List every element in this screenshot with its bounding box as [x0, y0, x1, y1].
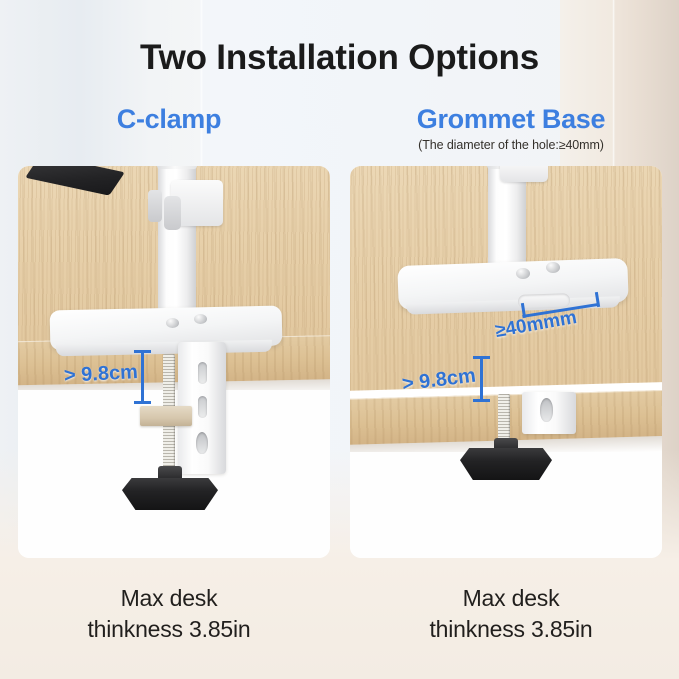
column-subtitle-hole-diameter: (The diameter of the hole:≥40mm)	[346, 138, 676, 152]
cable-clip-tab-left	[148, 190, 162, 222]
bracket-slot	[198, 362, 207, 384]
clamp-knob	[122, 478, 218, 510]
base-plate-screw-boss	[166, 318, 179, 328]
column-heading-c-clamp: C-clamp	[4, 104, 334, 135]
pole-top-cap	[157, 166, 197, 169]
caption-line-1: Max desk	[346, 583, 676, 614]
grommet-hole-bridge	[518, 293, 570, 309]
caption-grommet-base: Max desk thinkness 3.85in	[346, 583, 676, 644]
bracket-keyhole	[196, 432, 208, 454]
cable-clip-collar	[500, 166, 548, 182]
dimension-cap-top	[134, 350, 151, 353]
dimension-label-clearance: > 9.8cm	[63, 361, 138, 388]
caption-line-2: thinkness 3.85in	[4, 614, 334, 645]
caption-line-2: thinkness 3.85in	[346, 614, 676, 645]
photo-panel-c-clamp: > 9.8cm	[18, 166, 330, 558]
header: Two Installation Options C-clamp Grommet…	[0, 0, 679, 78]
page-title: Two Installation Options	[0, 38, 679, 78]
column-title-c-clamp: C-clamp	[4, 104, 334, 135]
dimension-cap-bottom	[473, 399, 490, 402]
dimension-bar-clearance	[480, 356, 483, 402]
caption-c-clamp: Max desk thinkness 3.85in	[4, 583, 334, 644]
cable-clip-tab-mid	[164, 196, 181, 230]
base-plate-screw-boss	[546, 262, 560, 273]
photo-panel-grommet-base: ≥40mmm > 9.8cm	[350, 166, 662, 558]
clamp-pressure-pad	[140, 406, 192, 426]
base-plate-screw-boss	[194, 314, 207, 324]
column-title-grommet-base: Grommet Base	[346, 104, 676, 135]
dimension-cap-top	[473, 356, 490, 359]
base-plate-screw-boss	[516, 268, 530, 279]
bracket-keyhole	[540, 398, 553, 422]
dimension-cap-bottom	[134, 401, 151, 404]
column-heading-grommet-base: Grommet Base (The diameter of the hole:≥…	[346, 104, 676, 152]
bracket-slot	[198, 396, 207, 418]
caption-line-1: Max desk	[4, 583, 334, 614]
clamp-knob	[460, 448, 552, 480]
dimension-bar-clearance	[141, 350, 144, 404]
